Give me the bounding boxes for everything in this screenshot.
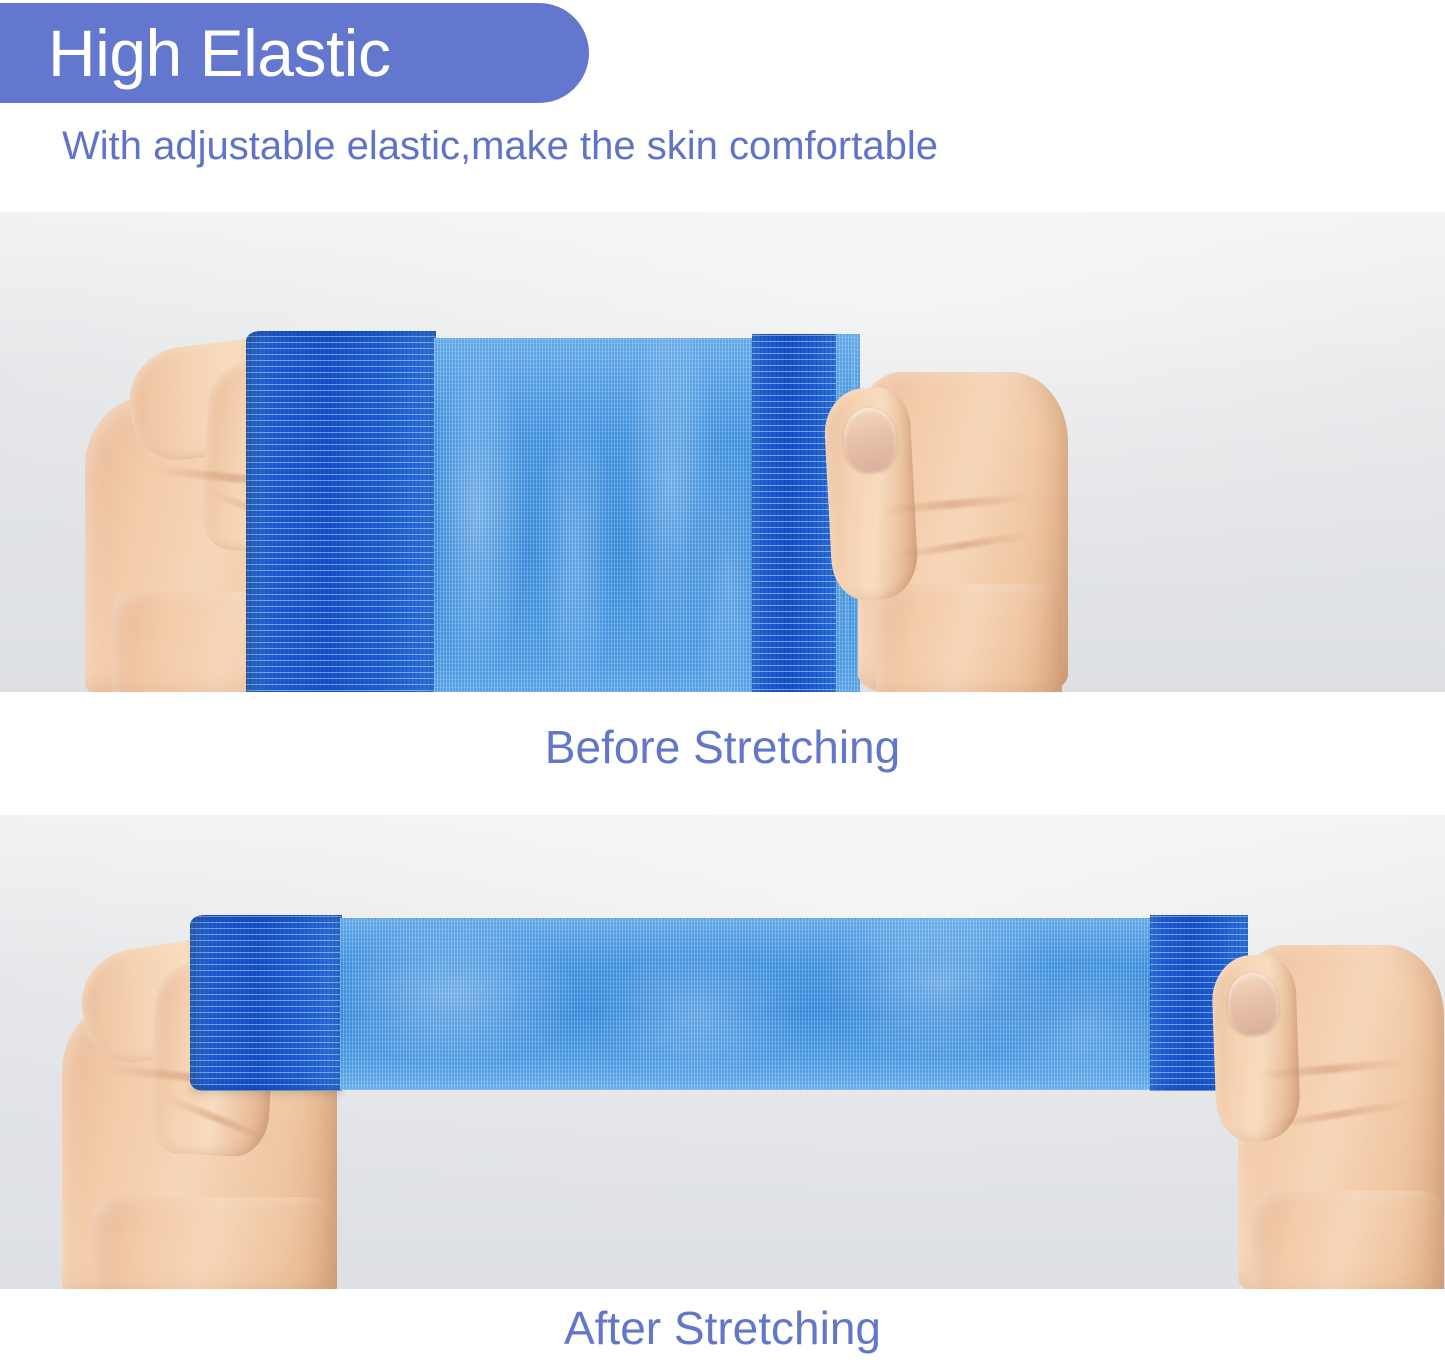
bandage-roll-left — [190, 915, 342, 1091]
right-wrist — [1252, 1191, 1444, 1289]
bandage-roll-right — [752, 334, 838, 692]
right-wrist — [876, 584, 1062, 692]
header: High Elastic With adjustable elastic,mak… — [0, 0, 1445, 212]
bandage-stretched-section — [340, 918, 1152, 1090]
title-badge: High Elastic — [0, 3, 589, 103]
photo-after-stretching — [0, 815, 1445, 1289]
photo-before-stretching — [0, 212, 1445, 692]
page-title: High Elastic — [0, 20, 390, 86]
left-wrist — [92, 1197, 336, 1289]
bandage-stretched-section — [434, 338, 754, 692]
subtitle: With adjustable elastic,make the skin co… — [62, 124, 938, 168]
bandage-roll-left — [246, 331, 436, 692]
product-infographic-page: High Elastic With adjustable elastic,mak… — [0, 0, 1445, 1367]
caption-before-stretching: Before Stretching — [0, 722, 1445, 772]
caption-after-stretching: After Stretching — [0, 1303, 1445, 1353]
